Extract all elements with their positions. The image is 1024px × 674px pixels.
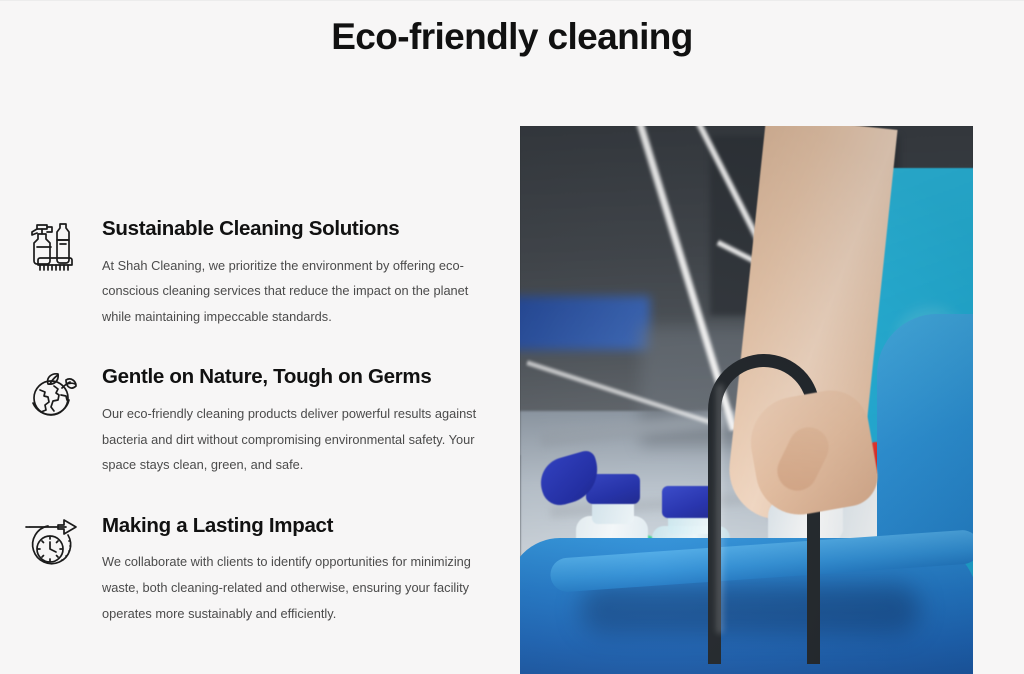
cleaning-caddy-photo [520,126,973,674]
feature-list: Sustainable Cleaning Solutions At Shah C… [24,214,494,626]
feature-body: Gentle on Nature, Tough on Germs Our eco… [82,362,494,477]
earth-leaves-icon [24,366,82,424]
feature-title: Making a Lasting Impact [102,513,494,539]
feature-item: Sustainable Cleaning Solutions At Shah C… [24,214,494,329]
feature-description: Our eco-friendly cleaning products deliv… [102,401,484,478]
feature-body: Sustainable Cleaning Solutions At Shah C… [82,214,494,329]
feature-title: Gentle on Nature, Tough on Germs [102,364,494,390]
cleaning-supplies-icon [24,218,82,276]
feature-body: Making a Lasting Impact We collaborate w… [82,511,494,626]
feature-description: At Shah Cleaning, we prioritize the envi… [102,253,484,330]
photo-caddy-side [877,314,973,554]
clock-arrow-icon [24,515,82,573]
feature-item: Making a Lasting Impact We collaborate w… [24,511,494,626]
page-title: Eco-friendly cleaning [0,14,1024,60]
feature-description: We collaborate with clients to identify … [102,549,484,626]
feature-item: Gentle on Nature, Tough on Germs Our eco… [24,362,494,477]
top-divider [0,0,1024,1]
photo-canvas [520,126,973,674]
photo-handle-highlight [716,384,724,634]
photo-blue-shelf [520,296,650,350]
feature-title: Sustainable Cleaning Solutions [102,216,494,242]
